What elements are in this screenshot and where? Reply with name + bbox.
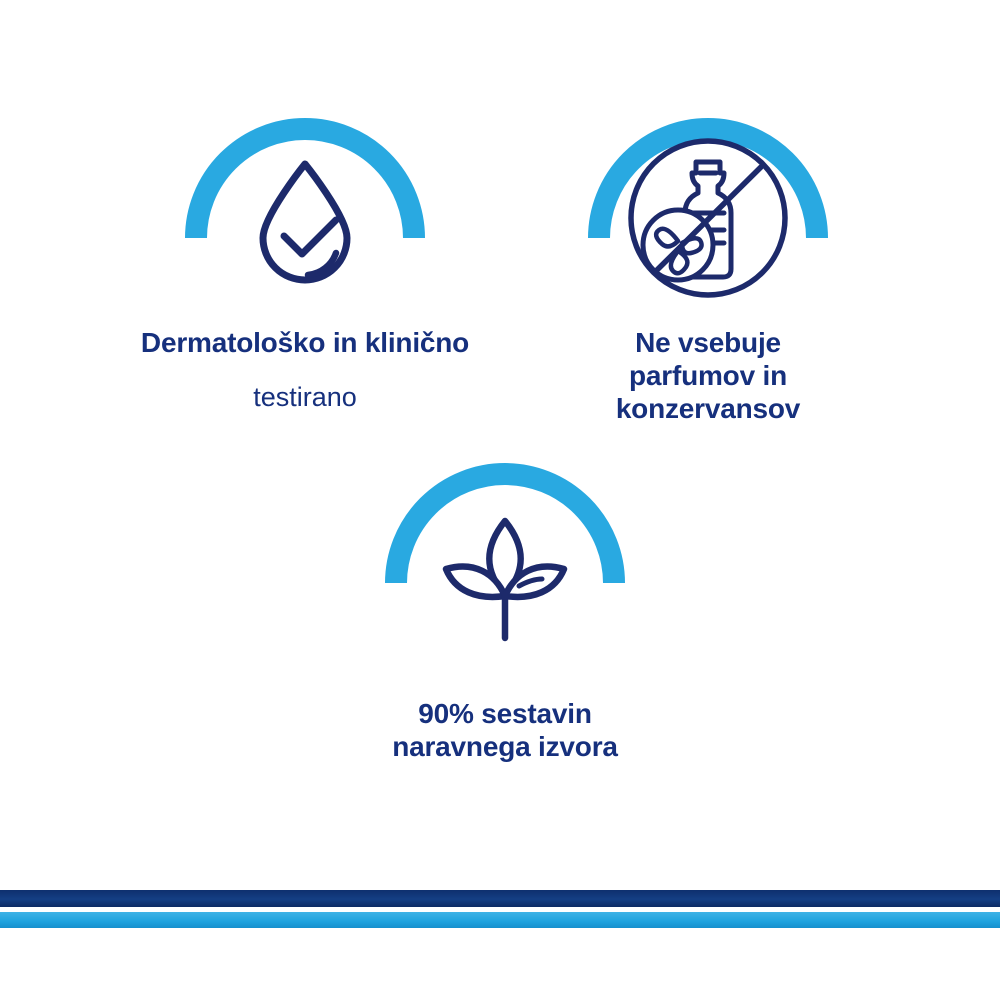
benefit-caption: Dermatološko in klinično testirano xyxy=(141,307,469,433)
benefit-icon-wrapper xyxy=(180,110,430,295)
water-drop-check-icon xyxy=(263,164,347,280)
benefit-caption: 90% sestavin naravnega izvora xyxy=(392,678,618,782)
poster-canvas: Dermatološko in klinično testirano xyxy=(0,0,1000,1000)
decorative-wave-net-band xyxy=(0,888,1000,1000)
benefit-dermatologically-tested: Dermatološko in klinično testirano xyxy=(175,110,435,433)
benefit-caption-bold: Ne vsebuje parfumov in konzervansov xyxy=(616,326,800,425)
benefit-icon-wrapper xyxy=(583,110,833,295)
benefit-caption: Ne vsebuje parfumov in konzervansov xyxy=(616,307,800,444)
benefit-no-perfumes-preservatives: Ne vsebuje parfumov in konzervansov xyxy=(578,110,838,444)
footer-light-blue-bar xyxy=(0,912,1000,928)
flower-shape xyxy=(643,210,713,280)
benefit-caption-regular: testirano xyxy=(141,382,469,414)
benefit-icon-wrapper xyxy=(380,455,630,640)
plant-leaf-icon xyxy=(446,521,564,638)
footer-navy-bar xyxy=(0,890,1000,907)
semicircle-arc-icon xyxy=(196,129,414,238)
no-perfume-bottle-icon xyxy=(631,141,785,295)
benefit-caption-bold: Dermatološko in klinično xyxy=(141,326,469,359)
benefit-caption-bold: 90% sestavin naravnega izvora xyxy=(392,697,618,763)
benefit-natural-origin-ingredients: 90% sestavin naravnega izvora xyxy=(375,455,635,782)
